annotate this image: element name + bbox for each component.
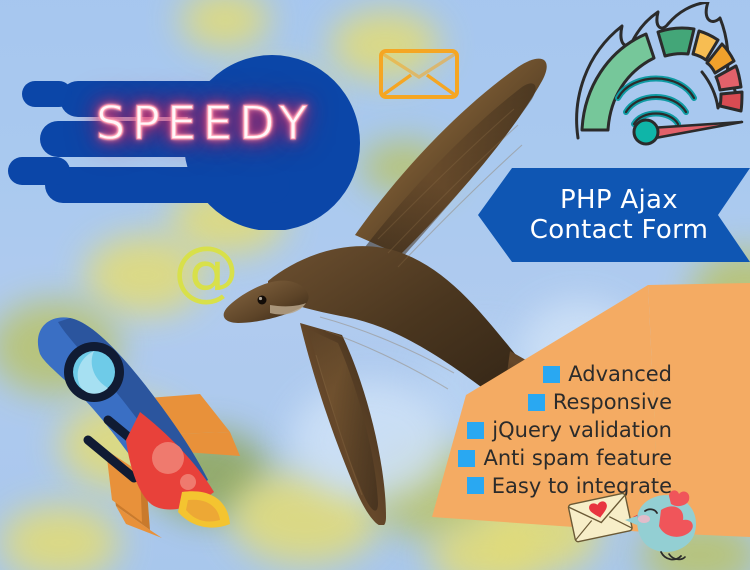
bullet-square-icon [467,422,484,439]
headline-ribbon: PHP Ajax Contact Form [478,168,750,262]
headline-line-2: Contact Form [530,215,709,245]
poster-canvas: SPEEDY PHP Ajax Contact Form Advanced Re… [0,0,750,570]
list-item: Anti spam feature [458,445,672,472]
feature-label: Anti spam feature [483,445,672,472]
feature-label: Responsive [553,389,672,416]
bullet-square-icon [467,477,484,494]
bullet-square-icon [543,366,560,383]
feature-label: jQuery validation [492,417,672,444]
bird-with-love-letter-icon [565,480,700,562]
list-item: jQuery validation [467,417,672,444]
brand-wordmark: SPEEDY [96,96,314,150]
bullet-square-icon [458,450,475,467]
envelope-icon [378,48,460,100]
list-item: Responsive [528,389,672,416]
at-symbol-icon: @ [173,238,239,304]
speedometer-icon [570,2,750,150]
feature-label: Advanced [568,361,672,388]
headline-text: PHP Ajax Contact Form [478,168,750,262]
rocket-icon [22,310,247,540]
feature-list: Advanced Responsive jQuery validation An… [420,361,672,499]
list-item: Advanced [543,361,672,388]
bullet-square-icon [528,394,545,411]
headline-line-1: PHP Ajax [560,185,678,215]
